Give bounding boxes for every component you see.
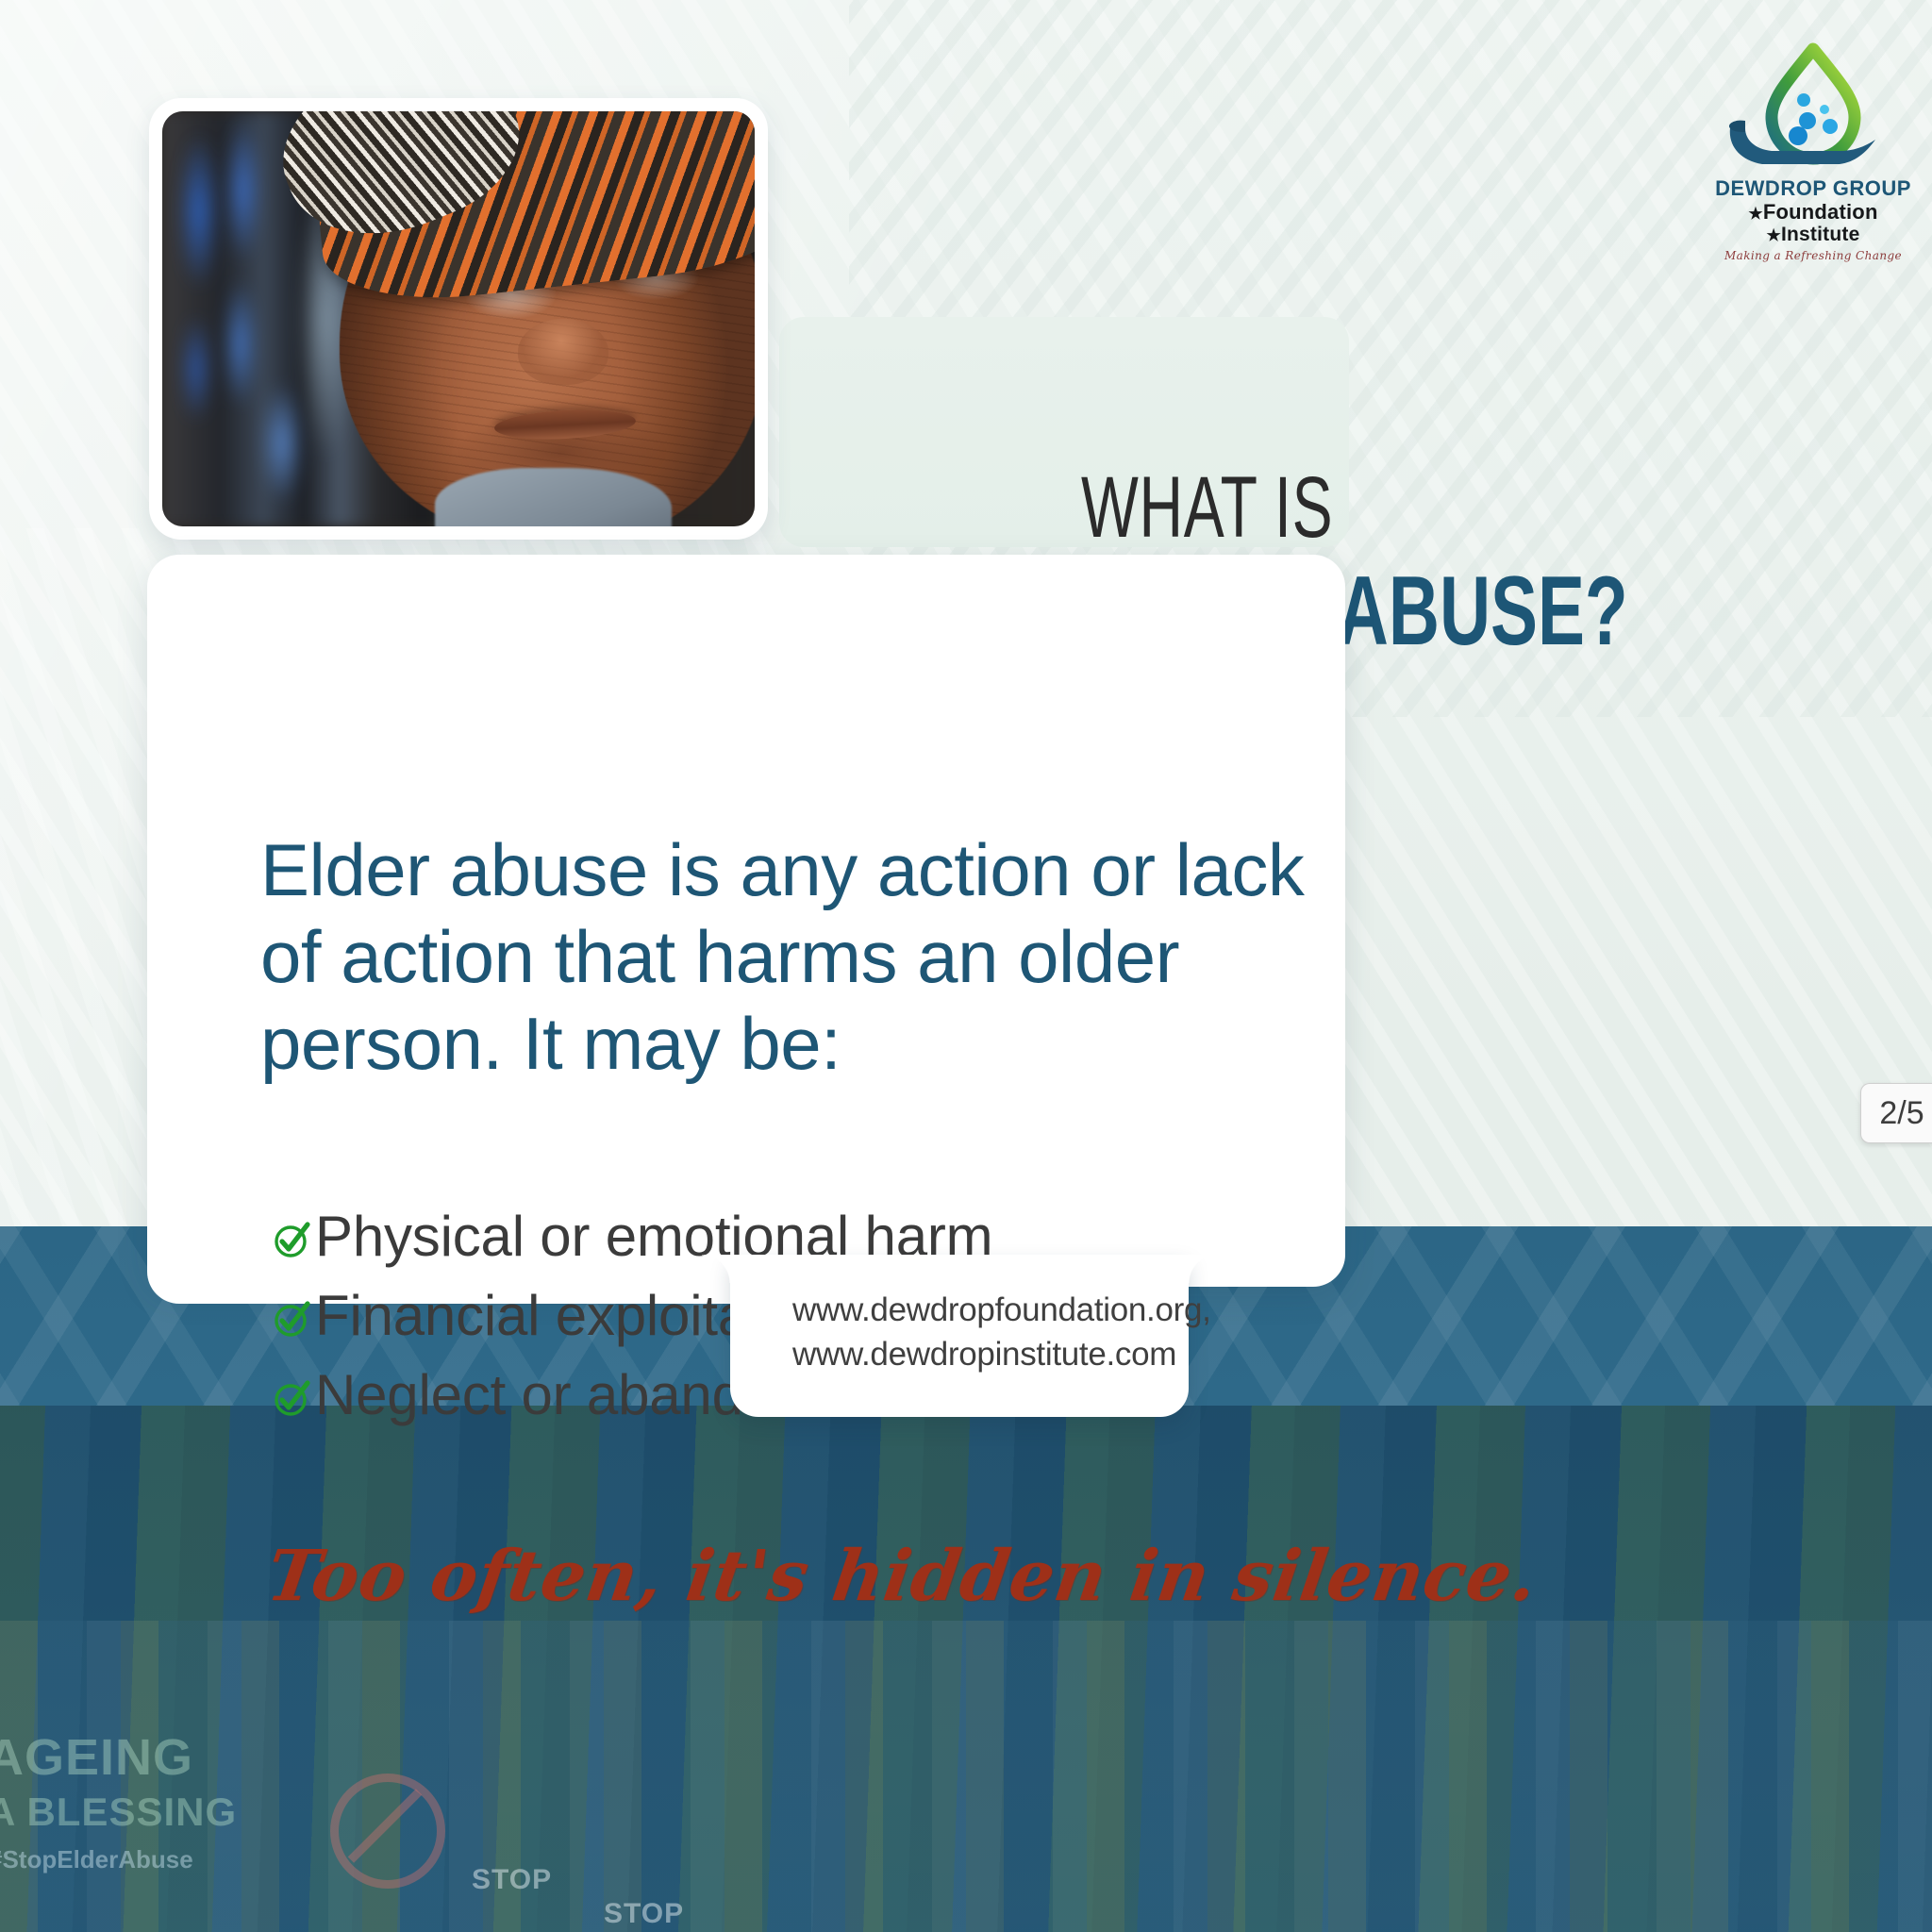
band-hashtag: #StopElderAbuse	[0, 1845, 193, 1874]
band-banner-line1: AGEING	[0, 1728, 237, 1789]
photo-nose	[518, 319, 608, 385]
band-background-photo	[0, 1406, 1932, 1932]
stop-sign-label-1: STOP	[472, 1864, 552, 1896]
lead-paragraph: Elder abuse is any action or lack of act…	[260, 826, 1307, 1087]
logo-line-2-text: Foundation	[1763, 200, 1878, 224]
logo-tagline: Making a Refreshing Change	[1713, 249, 1913, 262]
logo-star-icon-2: ★	[1767, 226, 1781, 244]
dewdrop-hand-logo-icon	[1713, 34, 1913, 177]
script-note: Too often, it's hidden in silence.	[262, 1536, 1542, 1617]
logo-line-1: DEWDROP GROUP	[1713, 177, 1913, 200]
elderly-woman-portrait	[162, 111, 755, 526]
page-indicator: 2/5	[1860, 1083, 1932, 1143]
green-check-circle-icon	[272, 1377, 313, 1419]
logo-line-3: ★Institute	[1713, 224, 1913, 246]
stop-sign-label-2: STOP	[604, 1898, 684, 1930]
green-check-circle-icon	[272, 1298, 313, 1340]
footer-url-2[interactable]: www.dewdropinstitute.com	[792, 1333, 1211, 1377]
no-entry-icon	[330, 1774, 445, 1889]
green-check-circle-icon	[272, 1219, 313, 1260]
logo-line-2: ★Foundation	[1713, 200, 1913, 224]
portrait-photo-card	[149, 98, 768, 540]
headline-line-1: WHAT IS	[1081, 466, 1649, 549]
brand-logo: DEWDROP GROUP ★Foundation ★Institute Mak…	[1713, 34, 1913, 262]
footer-url-1[interactable]: www.dewdropfoundation.org,	[792, 1289, 1211, 1333]
band-banner-line2: A BLESSING	[0, 1789, 237, 1836]
footer-urls: www.dewdropfoundation.org, www.dewdropin…	[792, 1289, 1211, 1377]
band-photo-overlay	[0, 1406, 1932, 1932]
poster-canvas: AGEING A BLESSING #StopElderAbuse STOP S…	[0, 0, 1932, 1932]
logo-line-3-text: Institute	[1781, 224, 1859, 245]
photo-shoulder	[435, 468, 672, 526]
logo-star-icon-1: ★	[1748, 205, 1762, 223]
band-banner-text: AGEING A BLESSING	[0, 1728, 237, 1835]
